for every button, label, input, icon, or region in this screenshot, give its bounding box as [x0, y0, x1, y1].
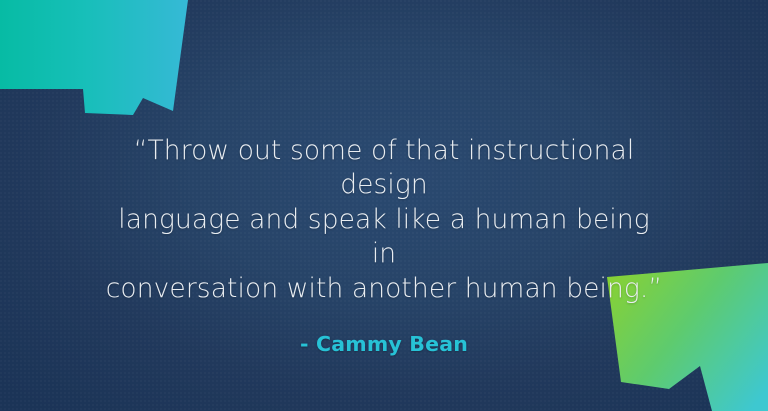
quote-slide: “Throw out some of that instructional de… — [0, 0, 768, 411]
quote-text: “Throw out some of that instructional de… — [104, 134, 664, 306]
quote-attribution: - Cammy Bean — [300, 332, 468, 356]
slide-content: “Throw out some of that instructional de… — [0, 0, 768, 411]
